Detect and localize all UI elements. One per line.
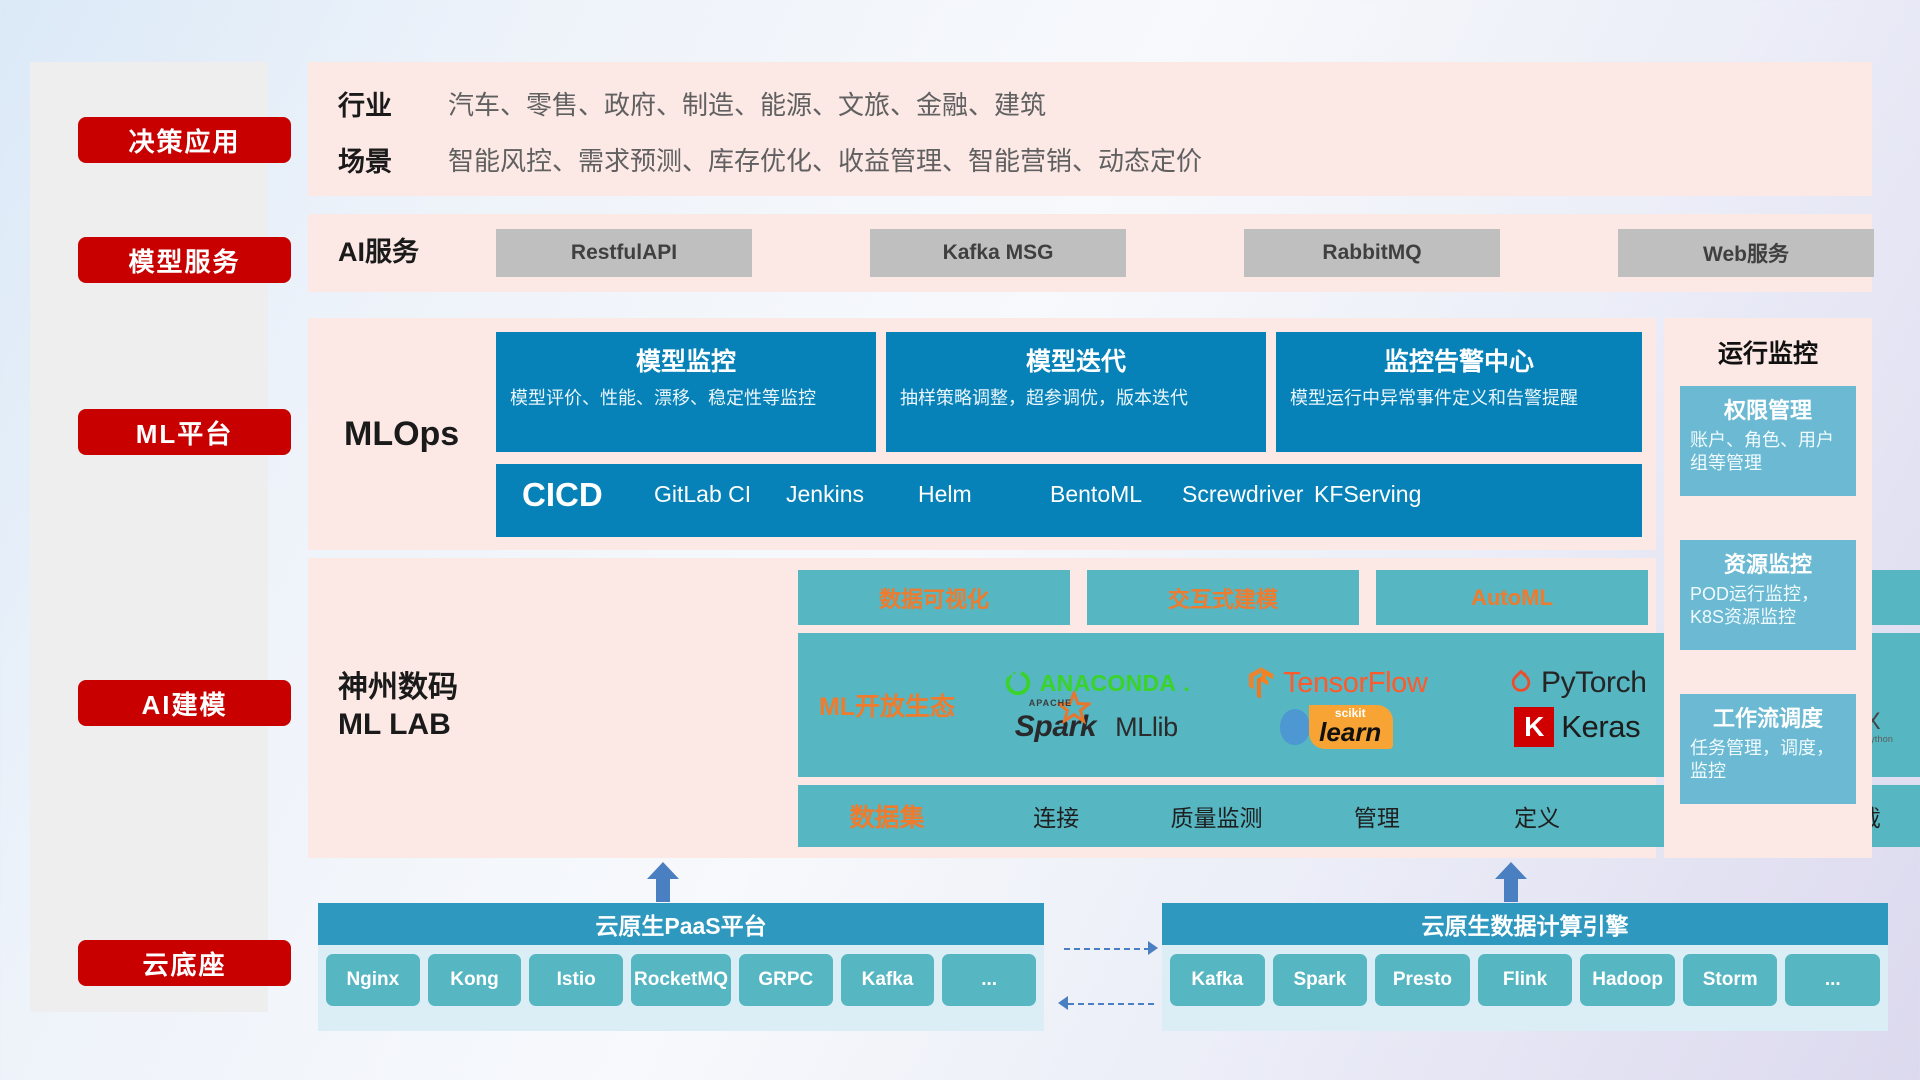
connector-line-right [1064,948,1150,950]
spark-star-icon [1057,691,1091,725]
keras-wordmark: Keras [1561,709,1640,745]
ops-card-desc: POD运行监控，K8S资源监控 [1690,583,1846,630]
ops-card-title: 权限管理 [1690,393,1846,425]
ops-card-title: 资源监控 [1690,547,1846,579]
paas-up-arrow-icon [645,862,681,902]
anaconda-mark-icon [1003,668,1033,698]
mlops-label: MLOps [344,414,459,455]
cicd-item-kfserving[interactable]: KFServing [1314,464,1446,509]
spark-apache-text: APACHE [1029,698,1072,708]
learn-text: learn [1319,719,1381,745]
run-monitor-panel: 运行监控 权限管理 账户、角色、用户组等管理 资源监控 POD运行监控，K8S资… [1664,318,1872,858]
decision-apps-panel: 行业 汽车、零售、政府、制造、能源、文旅、金融、建筑 场景 智能风控、需求预测、… [308,62,1872,196]
ai-service-panel: AI服务 RestfulAPI Kafka MSG RabbitMQ Web服务 [308,214,1872,292]
compute-up-arrow-icon [1493,862,1529,902]
industry-label: 行业 [338,84,448,123]
rail-label: 模型服务 [128,242,240,279]
mlops-panel: MLOps 模型监控 模型评价、性能、漂移、稳定性等监控 模型迭代 抽样策略调整… [308,318,1656,550]
cicd-item-bentoml[interactable]: BentoML [1050,464,1182,509]
ops-card-title: 工作流调度 [1690,701,1846,733]
cicd-item-jenkins[interactable]: Jenkins [786,464,918,509]
pytorch-logo: PyTorch [1457,666,1698,700]
paas-platform-title: 云原生PaaS平台 [318,903,1044,945]
dataset-item-quality-monitoring[interactable]: 质量监测 [1136,799,1296,833]
pytorch-wordmark: PyTorch [1541,666,1647,700]
paas-chip-grpc[interactable]: GRPC [739,954,833,1006]
rail-item-ml-platform[interactable]: ML平台 [78,409,291,455]
run-monitor-title: 运行监控 [1664,318,1872,370]
keras-logo: K Keras [1457,707,1698,747]
paas-platform-block: 云原生PaaS平台 Nginx Kong Istio RocketMQ GRPC… [318,903,1044,1031]
ops-card-desc: 任务管理，调度，监控 [1690,737,1846,784]
ai-service-label: AI服务 [338,236,419,269]
ml-lab-panel: 神州数码 ML LAB 数据可视化 交互式建模 AutoML JupyterLa… [308,558,1656,858]
cicd-bar: CICD GitLab CI Jenkins Helm BentoML Scre… [496,464,1642,537]
service-chip-restfulapi[interactable]: RestfulAPI [496,229,752,277]
industry-row: 行业 汽车、零售、政府、制造、能源、文旅、金融、建筑 [338,84,1046,123]
scikit-orange-blob-icon: scikit learn [1309,705,1393,749]
paas-chip-kong[interactable]: Kong [428,954,522,1006]
compute-chip-presto[interactable]: Presto [1375,954,1470,1006]
service-chip-web-service[interactable]: Web服务 [1618,229,1874,277]
anaconda-logo: ANACONDA . [976,668,1217,698]
card-title: 监控告警中心 [1290,342,1628,378]
rail-item-ai-modeling[interactable]: AI建模 [78,680,291,726]
ops-card-permission-management[interactable]: 权限管理 账户、角色、用户组等管理 [1680,386,1856,496]
dataset-item-connect[interactable]: 连接 [976,799,1136,833]
rail-item-cloud-base[interactable]: 云底座 [78,940,291,986]
card-title: 模型迭代 [900,342,1252,378]
ml-ecosystem-title: ML开放生态 [798,687,976,723]
compute-chip-storm[interactable]: Storm [1683,954,1778,1006]
card-desc: 模型评价、性能、漂移、稳定性等监控 [510,386,862,410]
ops-card-workflow-scheduling[interactable]: 工作流调度 任务管理，调度，监控 [1680,694,1856,804]
industry-value: 汽车、零售、政府、制造、能源、文旅、金融、建筑 [448,85,1046,122]
paas-chip-more[interactable]: ... [942,954,1036,1006]
card-desc: 模型运行中异常事件定义和告警提醒 [1290,386,1628,410]
keras-mark-icon: K [1514,707,1554,747]
ml-lab-label: 神州数码 ML LAB [338,670,458,743]
compute-chip-kafka[interactable]: Kafka [1170,954,1265,1006]
paas-chip-rocketmq[interactable]: RocketMQ [631,954,731,1006]
compute-chip-hadoop[interactable]: Hadoop [1580,954,1675,1006]
cicd-title: CICD [496,464,654,514]
compute-chip-flink[interactable]: Flink [1478,954,1573,1006]
spark-mllib-logo: APACHE Spark MLlib [976,710,1217,744]
service-chip-rabbitmq[interactable]: RabbitMQ [1244,229,1500,277]
keras-k-letter: K [1524,711,1544,743]
paas-chip-istio[interactable]: Istio [529,954,623,1006]
rail-label: 决策应用 [128,122,240,159]
dataset-item-define[interactable]: 定义 [1457,799,1617,833]
scenario-value: 智能风控、需求预测、库存优化、收益管理、智能营销、动态定价 [448,141,1202,178]
mllib-wordmark: MLlib [1115,712,1178,743]
mlops-card-alert-center[interactable]: 监控告警中心 模型运行中异常事件定义和告警提醒 [1276,332,1642,452]
connector-line-left [1068,1003,1154,1005]
compute-chip-spark[interactable]: Spark [1273,954,1368,1006]
scikit-learn-logo: scikit learn [1217,705,1458,749]
scikit-blue-blob-icon [1280,709,1310,745]
mlops-card-model-iteration[interactable]: 模型迭代 抽样策略调整，超参调优，版本迭代 [886,332,1266,452]
tool-tab-data-visualization[interactable]: 数据可视化 [798,570,1070,625]
architecture-diagram: 决策应用 模型服务 ML平台 AI建模 云底座 行业 汽车、零售、政府、制造、能… [0,0,1920,1080]
tensorflow-wordmark: TensorFlow [1283,667,1427,700]
compute-chip-more[interactable]: ... [1785,954,1880,1006]
tool-tab-automl[interactable]: AutoML [1376,570,1648,625]
cicd-item-screwdriver[interactable]: Screwdriver [1182,464,1314,509]
rail-label: ML平台 [136,414,234,451]
pytorch-mark-icon [1508,668,1534,698]
ops-card-desc: 账户、角色、用户组等管理 [1690,429,1846,476]
mlops-card-model-monitoring[interactable]: 模型监控 模型评价、性能、漂移、稳定性等监控 [496,332,876,452]
paas-chip-row: Nginx Kong Istio RocketMQ GRPC Kafka ... [318,945,1044,1016]
scenario-row: 场景 智能风控、需求预测、库存优化、收益管理、智能营销、动态定价 [338,140,1202,179]
scenario-label: 场景 [338,140,448,179]
cicd-item-helm[interactable]: Helm [918,464,1050,509]
paas-chip-nginx[interactable]: Nginx [326,954,420,1006]
tensorflow-logo: TensorFlow [1217,666,1458,700]
paas-chip-kafka[interactable]: Kafka [841,954,935,1006]
service-chip-kafka-msg[interactable]: Kafka MSG [870,229,1126,277]
anaconda-dot: . [1183,670,1189,697]
rail-label: AI建模 [141,685,227,722]
cicd-item-gitlab-ci[interactable]: GitLab CI [654,464,786,509]
rail-label: 云底座 [142,945,226,982]
rail-item-model-service[interactable]: 模型服务 [78,237,291,283]
compute-engine-title: 云原生数据计算引擎 [1162,903,1888,945]
tool-tab-interactive-modeling[interactable]: 交互式建模 [1087,570,1359,625]
tensorflow-mark-icon [1246,666,1276,700]
layer-rail: 决策应用 模型服务 ML平台 AI建模 云底座 [30,62,268,1012]
ops-card-resource-monitoring[interactable]: 资源监控 POD运行监控，K8S资源监控 [1680,540,1856,650]
compute-engine-block: 云原生数据计算引擎 Kafka Spark Presto Flink Hadoo… [1162,903,1888,1031]
dataset-title: 数据集 [798,798,976,834]
card-desc: 抽样策略调整，超参调优，版本迭代 [900,386,1252,410]
rail-item-decision-apps[interactable]: 决策应用 [78,117,291,163]
connector-arrow-right-icon [1148,941,1158,955]
dataset-item-manage[interactable]: 管理 [1297,799,1457,833]
connector-arrow-left-icon [1058,996,1068,1010]
compute-chip-row: Kafka Spark Presto Flink Hadoop Storm ..… [1162,945,1888,1016]
card-title: 模型监控 [510,342,862,378]
